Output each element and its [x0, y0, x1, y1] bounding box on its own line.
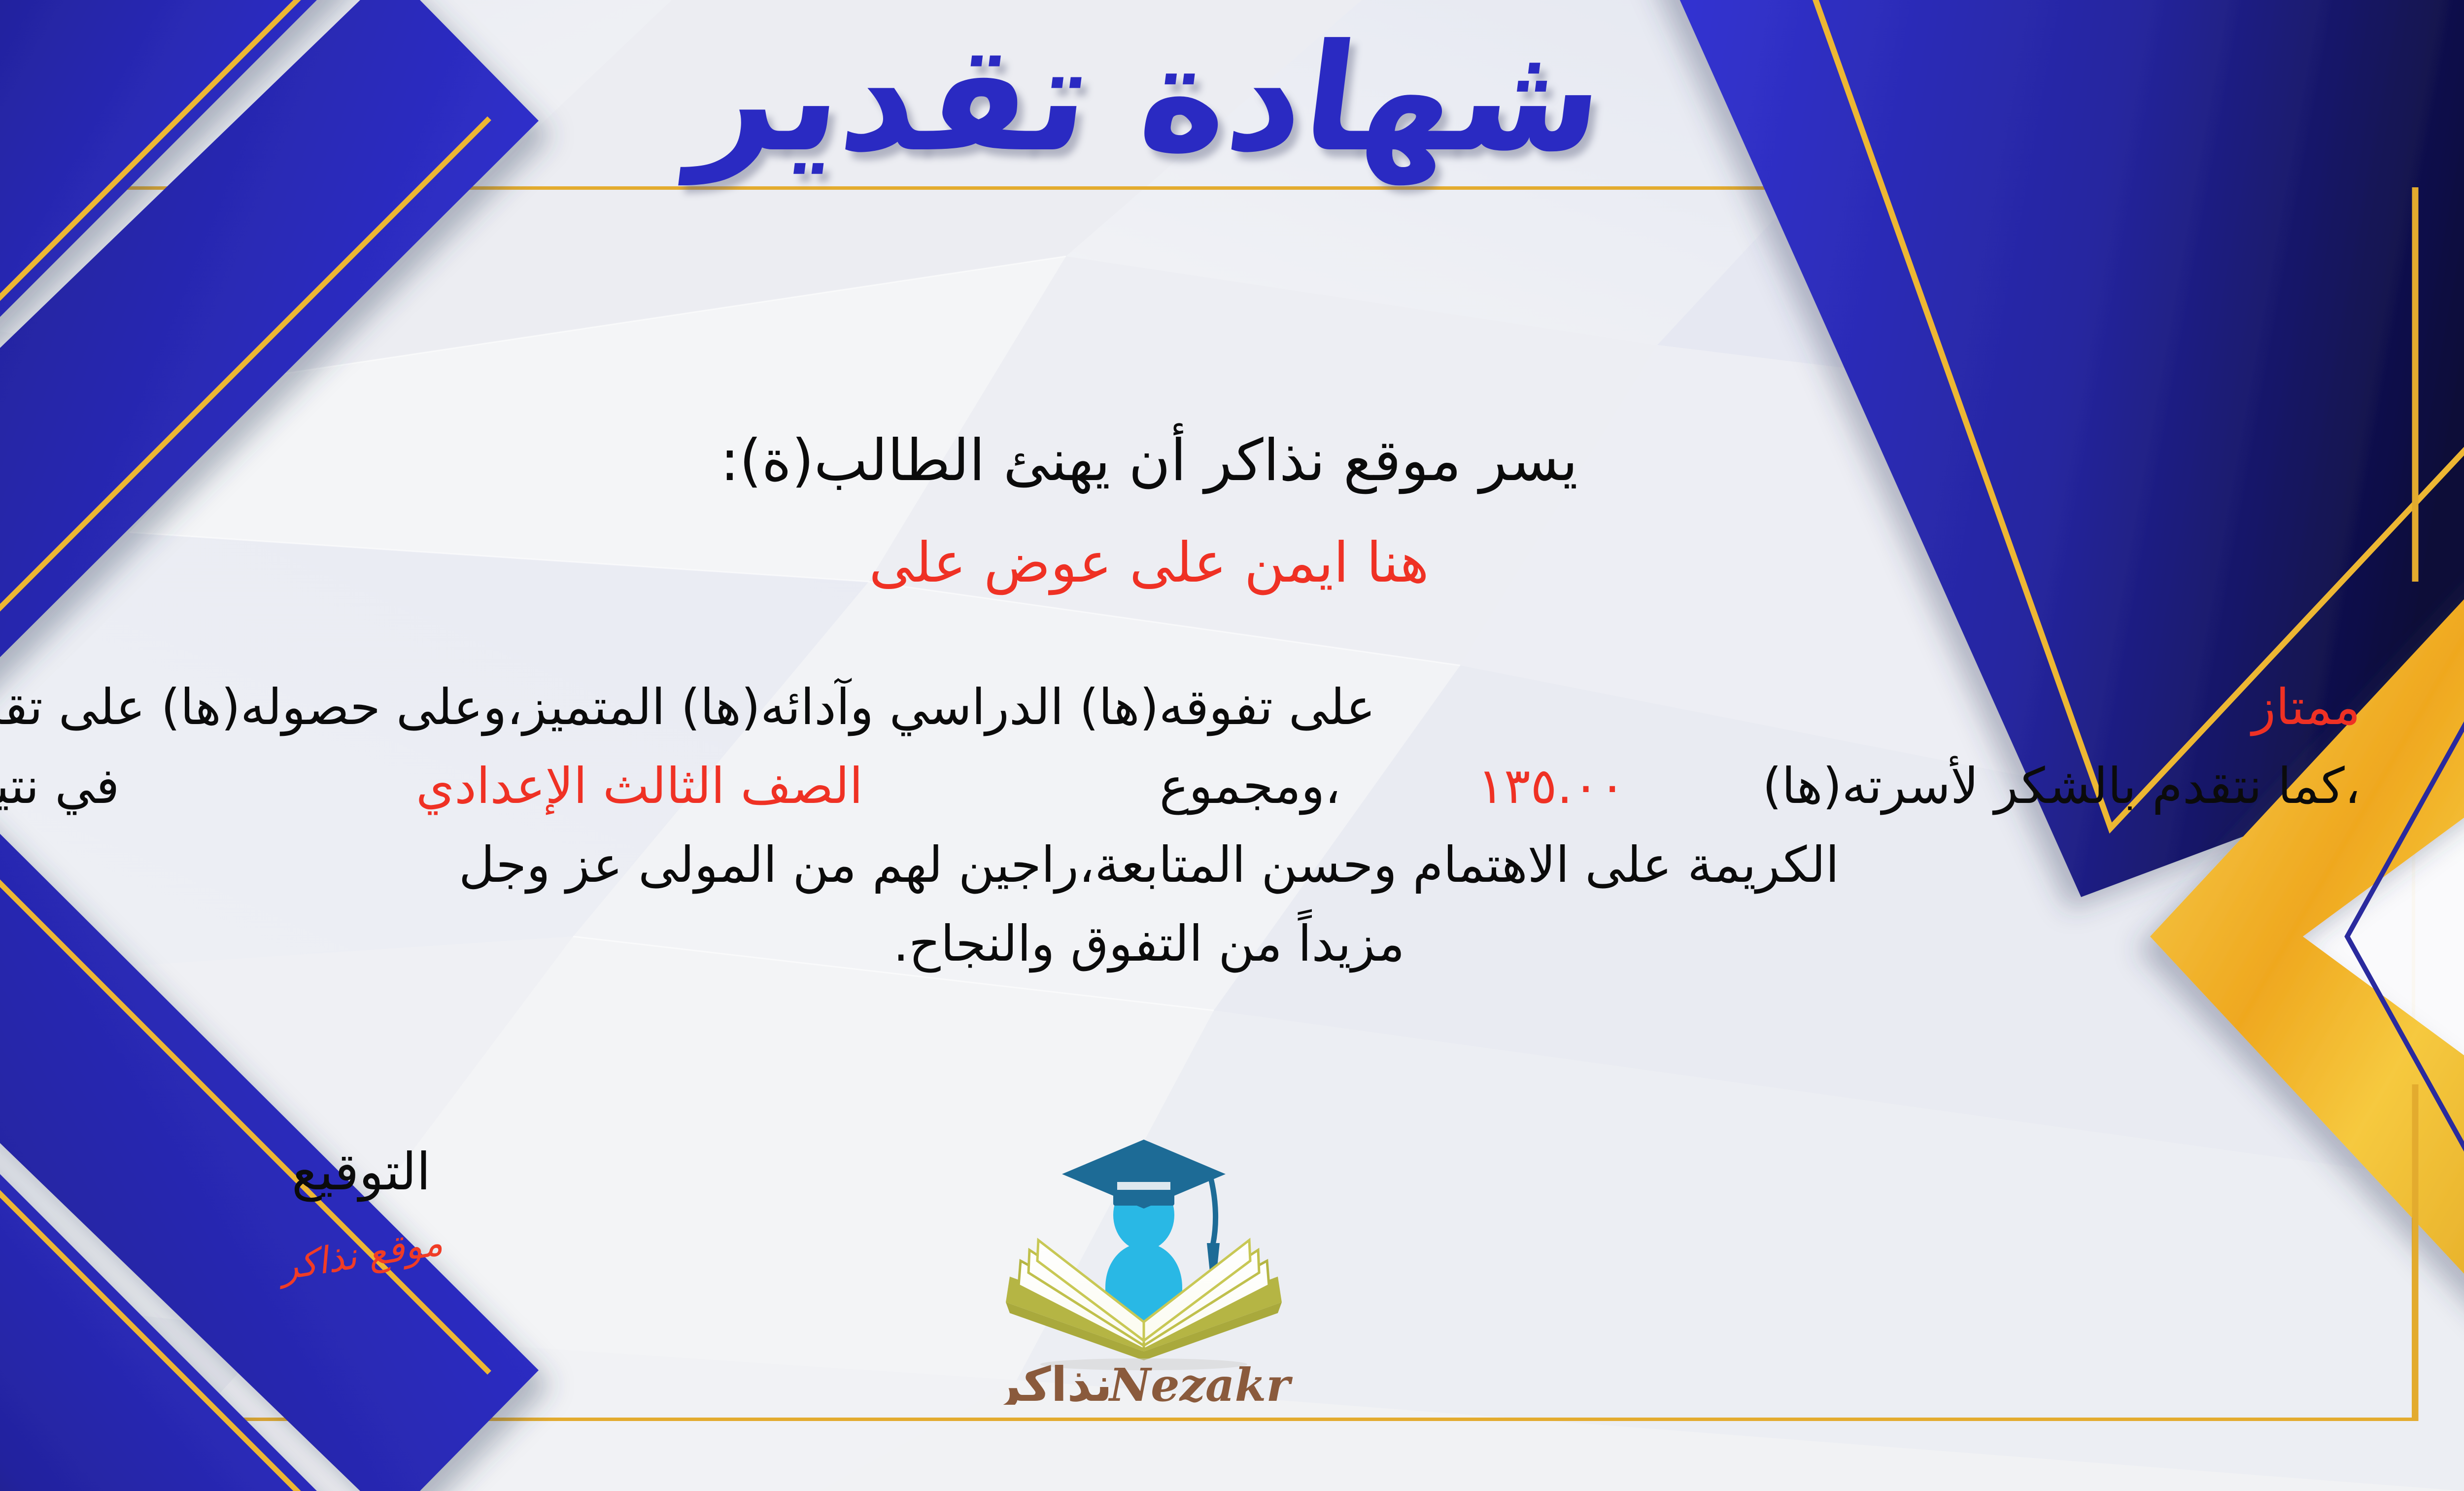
greeting-line: يسر موقع نذاكر أن يهنئ الطالب(ة):	[0, 425, 2464, 496]
tassel-cord	[1211, 1178, 1216, 1245]
signature-mark: موقع نذاكر	[277, 1223, 445, 1288]
student-name: هنا ايمن على عوض على	[0, 528, 2464, 597]
paragraph-line-2: ،كما نتقدم بالشكر لأسرته(ها) ١٣٥.٠٠ ،ومج…	[0, 747, 2361, 826]
total-label: ،ومجموع	[1160, 747, 1341, 826]
family-thanks-text: ،كما نتقدم بالشكر لأسرته(ها)	[1762, 747, 2361, 826]
grade-value: ممتاز	[2252, 668, 2361, 747]
total-score-value: ١٣٥.٠٠	[1477, 747, 1625, 826]
certificate-canvas: شهادة تقدير يسر موقع نذاكر أن يهنئ الطال…	[0, 0, 2464, 1491]
logo-wordmark-arabic: نذاكر	[992, 1357, 1112, 1405]
result-label: في نتيجة	[0, 747, 119, 826]
paragraph-line-3-text: الكريمة على الاهتمام وحسن المتابعة،راجين…	[459, 826, 1839, 904]
signature-label: التوقيع	[208, 1144, 514, 1200]
award-paragraph: ممتاز على تفوقه(ها) الدراسي وآدائه(ها) ا…	[0, 668, 2361, 983]
paragraph-line-3: الكريمة على الاهتمام وحسن المتابعة،راجين…	[0, 826, 2361, 904]
class-name-value: الصف الثالث الإعدادي	[416, 747, 863, 826]
mortarboard-highlight	[1117, 1182, 1170, 1190]
paragraph-line-1: ممتاز على تفوقه(ها) الدراسي وآدائه(ها) ا…	[0, 668, 2361, 747]
paragraph-line-4: مزيداً من التفوق والنجاح.	[0, 904, 2361, 983]
logo-wordmark-latin: Nezakr	[1108, 1358, 1293, 1405]
paragraph-line-1-text: على تفوقه(ها) الدراسي وآدائه(ها) المتميز…	[0, 668, 1375, 747]
signature-block: التوقيع موقع نذاكر	[208, 1144, 514, 1276]
paragraph-line-4-text: مزيداً من التفوق والنجاح.	[893, 904, 1404, 983]
certificate-content: شهادة تقدير يسر موقع نذاكر أن يهنئ الطال…	[0, 0, 2464, 1491]
page-title: شهادة تقدير	[0, 30, 2464, 168]
nezakr-logo: Nezakr نذاكر	[947, 1129, 1341, 1405]
